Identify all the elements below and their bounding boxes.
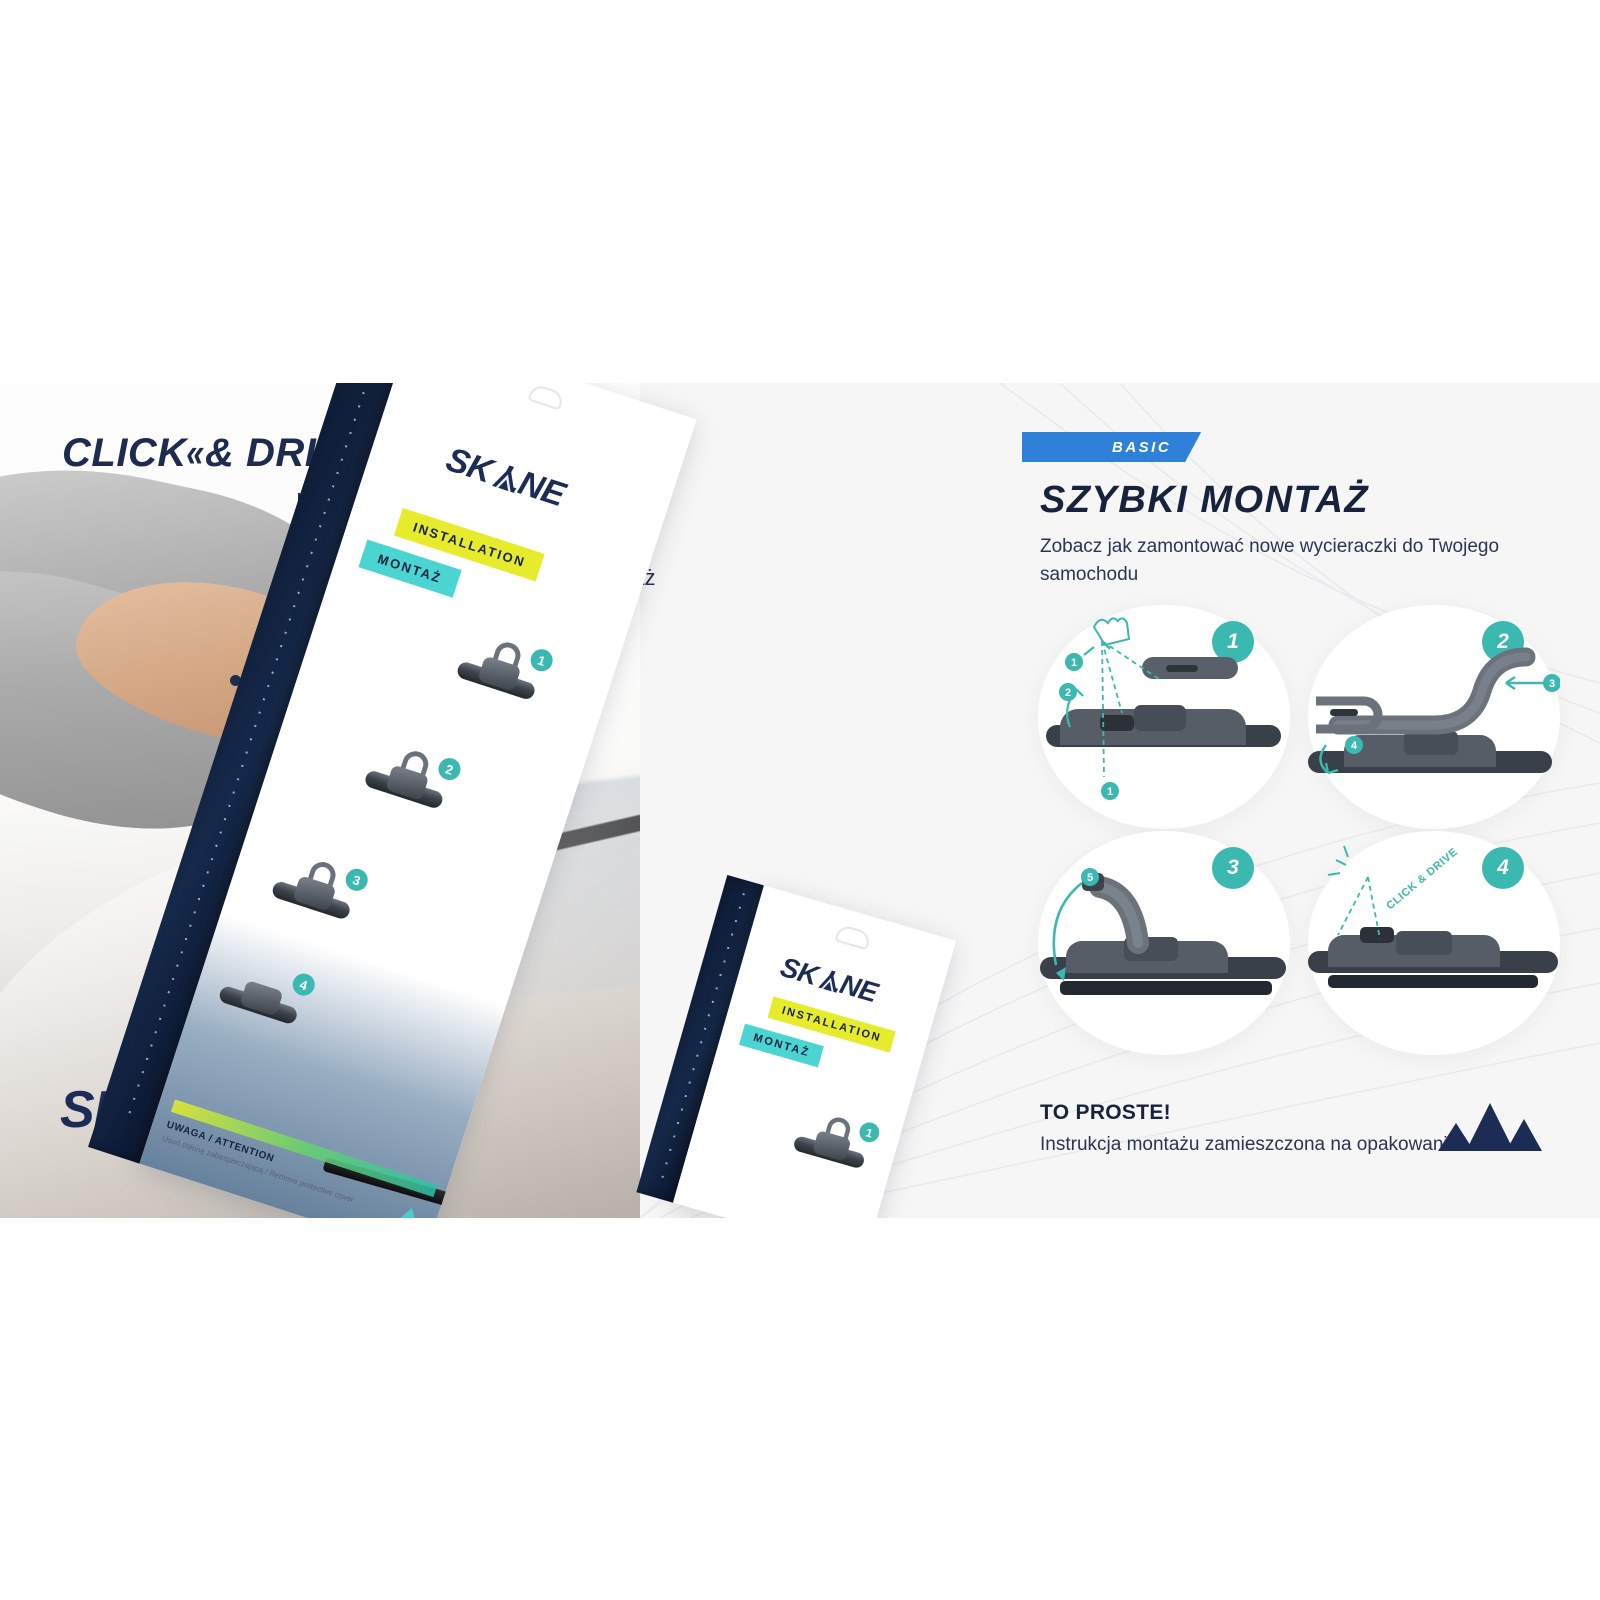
package-step-2: 2 xyxy=(353,737,459,843)
hang-hole xyxy=(834,924,872,951)
package-step-number-2: 2 xyxy=(436,755,464,783)
step-1-illustration: 1 2 1 xyxy=(1038,605,1290,829)
skalne-logo-package-large: SKLNE xyxy=(440,441,595,526)
svg-text:5: 5 xyxy=(1087,872,1093,884)
footer-title: TO PROSTE! xyxy=(1040,1101,1464,1125)
poster-stage: SK LNE CLICK«& DRIVE Wycieraczki posiada… xyxy=(0,383,1600,1218)
hang-hole xyxy=(527,383,565,411)
svg-text:3: 3 xyxy=(1549,678,1555,690)
package-step-number-1: 1 xyxy=(528,646,556,674)
step-2-illustration: 3 4 xyxy=(1308,605,1560,829)
package-step-number-3: 3 xyxy=(343,866,371,894)
svg-text:2: 2 xyxy=(1065,687,1071,699)
svg-text:1: 1 xyxy=(1071,657,1077,669)
package-small-step-1: 1 xyxy=(784,1105,878,1199)
page-title: SZYBKI MONTAŻ xyxy=(1040,479,1369,522)
svg-text:1: 1 xyxy=(1107,786,1113,798)
claim-headline-text: CLICK xyxy=(62,431,187,476)
mountain-logo xyxy=(1436,1095,1544,1158)
footer-block: TO PROSTE! Instrukcja montażu zamieszczo… xyxy=(1040,1101,1464,1159)
step-3-illustration: 5 xyxy=(1038,831,1290,1055)
right-panel: BASIC SZYBKI MONTAŻ Zobacz jak zamontowa… xyxy=(1022,383,1600,1218)
svg-text:4: 4 xyxy=(1351,740,1358,752)
svg-text:SK: SK xyxy=(777,952,824,992)
package-box-small: SKLNE INSTALLATION MONTAŻ 1 xyxy=(673,885,956,1218)
double-chevron-icon: « xyxy=(186,431,196,476)
status-badge: BASIC xyxy=(1022,432,1201,462)
steps-grid: 1 xyxy=(1022,605,1582,1075)
adapter-icon xyxy=(239,980,283,1016)
package-step-1: 1 xyxy=(445,628,551,734)
skalne-wordmark-large: SKLNE xyxy=(442,441,596,522)
mountain-icon xyxy=(1436,1095,1544,1153)
svg-text:SK: SK xyxy=(442,441,500,491)
footer-text: Instrukcja montażu zamieszczona na opako… xyxy=(1040,1131,1464,1159)
page-subtitle: Zobacz jak zamontować nowe wycieraczki d… xyxy=(1040,533,1600,589)
package-step-number-1: 1 xyxy=(857,1120,881,1144)
